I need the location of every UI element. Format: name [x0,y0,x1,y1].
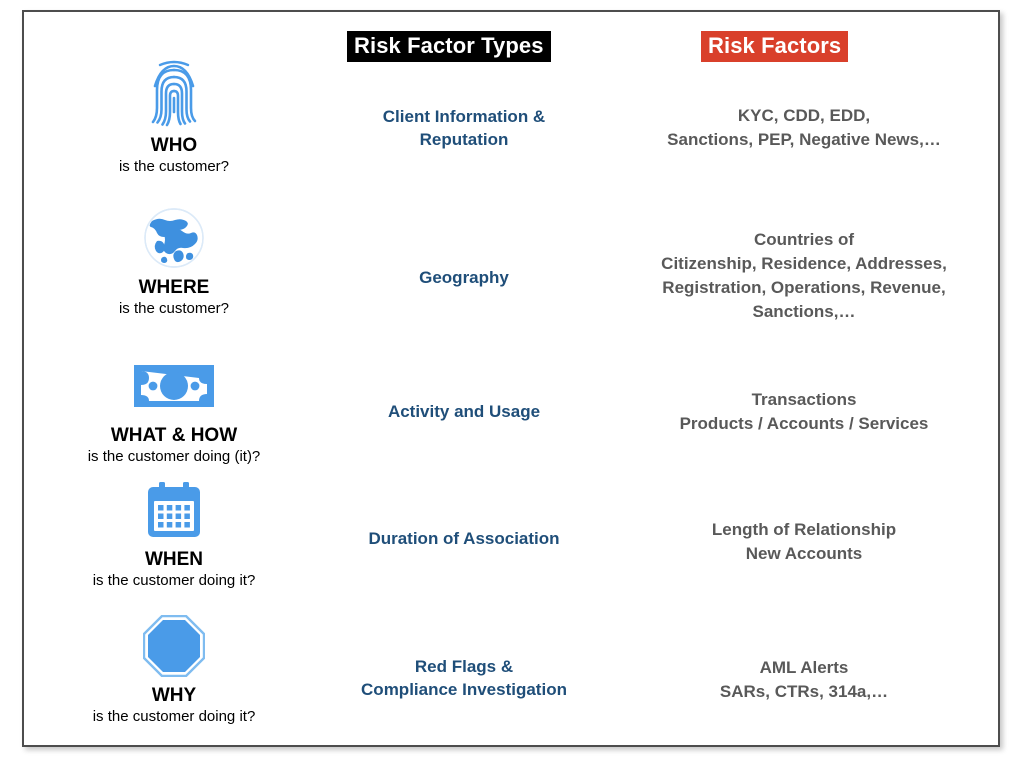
risk-factor-type-line: Geography [324,267,604,290]
globe-icon [24,202,324,274]
risk-factor-types-header: Risk Factor Types [347,31,551,62]
row-who-icon-cell: WHO is the customer? [24,60,324,176]
risk-factor-type-cell: Red Flags & Compliance Investigation [324,656,604,702]
risk-factors-cell: KYC, CDD, EDD, Sanctions, PEP, Negative … [604,104,1004,152]
risk-factor-type-cell: Activity and Usage [324,401,604,424]
question-subtitle: is the customer doing it? [24,572,324,590]
risk-factor-line: New Accounts [604,542,1004,566]
risk-factor-type-cell: Client Information & Reputation [324,106,604,152]
question-word: WHAT & HOW [24,425,324,447]
risk-factor-line: Citizenship, Residence, Addresses, [604,252,1004,276]
question-subtitle: is the customer doing it? [24,708,324,726]
question-subtitle: is the customer? [24,300,324,318]
question-subtitle: is the customer doing (it)? [24,448,324,466]
question-subtitle: is the customer? [24,158,324,176]
risk-factor-line: Products / Accounts / Services [604,412,1004,436]
risk-factor-type-line: Client Information & [324,106,604,129]
risk-factor-type-line: Reputation [324,129,604,152]
risk-factor-line: Sanctions, PEP, Negative News,… [604,128,1004,152]
risk-factor-line: KYC, CDD, EDD, [604,104,1004,128]
risk-factor-line: Sanctions,… [604,300,1004,324]
risk-factors-cell: Transactions Products / Accounts / Servi… [604,388,1004,436]
risk-factor-line: Countries of [604,228,1004,252]
row-when-icon-cell: WHEN is the customer doing it? [24,474,324,590]
question-word: WHO [24,135,324,157]
question-word: WHERE [24,277,324,299]
risk-factor-type-line: Red Flags & [324,656,604,679]
slide-frame: Risk Factor Types Risk Factors [22,10,1000,747]
risk-factors-cell: Countries of Citizenship, Residence, Add… [604,228,1004,325]
row-what-icon-cell: WHAT & HOW is the customer doing (it)? [24,350,324,466]
risk-factor-type-line: Activity and Usage [324,401,604,424]
risk-factor-line: AML Alerts [604,656,1004,680]
risk-factor-type-line: Duration of Association [324,528,604,551]
risk-factor-line: SARs, CTRs, 314a,… [604,680,1004,704]
row-where-icon-cell: WHERE is the customer? [24,202,324,318]
risk-factor-type-cell: Geography [324,267,604,290]
banknote-icon [24,350,324,422]
row-why-icon-cell: WHY is the customer doing it? [24,610,324,726]
risk-factor-line: Length of Relationship [604,518,1004,542]
fingerprint-icon [24,60,324,132]
risk-factor-line: Registration, Operations, Revenue, [604,276,1004,300]
question-word: WHEN [24,549,324,571]
stop-sign-icon [24,610,324,682]
risk-factors-header: Risk Factors [701,31,848,62]
risk-factor-line: Transactions [604,388,1004,412]
risk-factor-type-cell: Duration of Association [324,528,604,551]
calendar-icon [24,474,324,546]
risk-factors-cell: AML Alerts SARs, CTRs, 314a,… [604,656,1004,704]
question-word: WHY [24,685,324,707]
risk-factor-type-line: Compliance Investigation [324,679,604,702]
risk-factors-cell: Length of Relationship New Accounts [604,518,1004,566]
